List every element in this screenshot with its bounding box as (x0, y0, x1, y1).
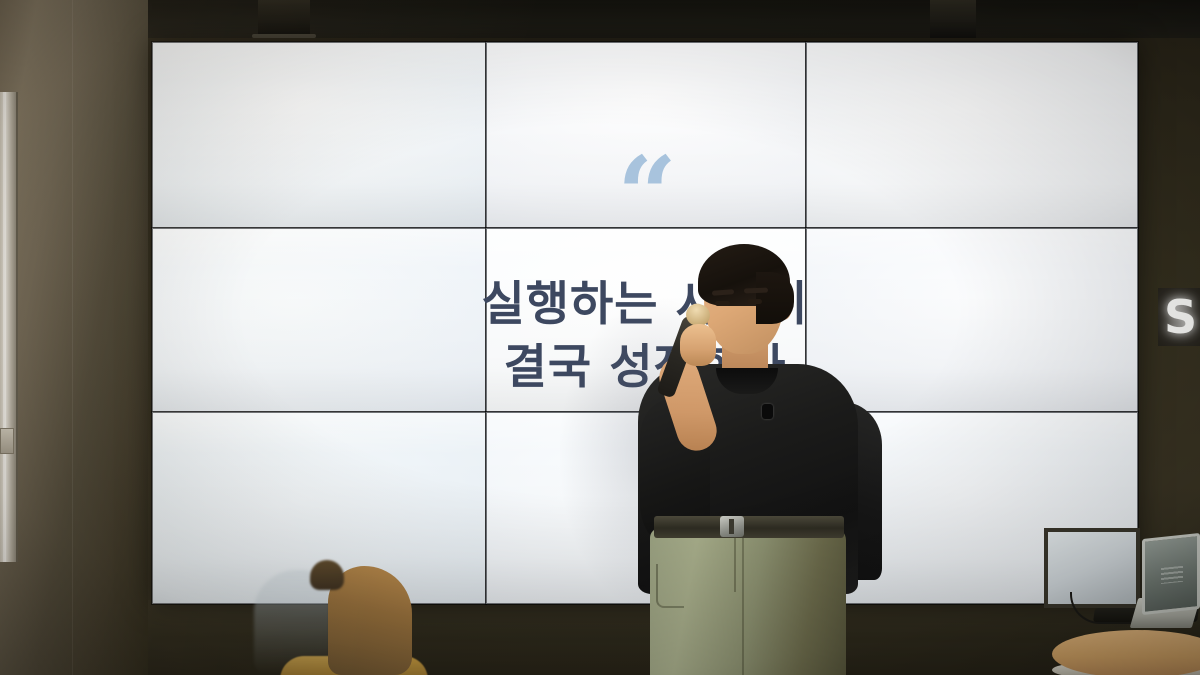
presenter-hair (698, 244, 790, 306)
presenter-pants-seam (734, 530, 736, 592)
ceiling-speaker-right-icon (930, 0, 976, 40)
wall-plate-icon (0, 428, 14, 454)
video-wall-panel (806, 42, 1138, 228)
presenter-pants-pocket (656, 564, 684, 608)
belt-buckle-icon (720, 516, 744, 537)
lapel-microphone-icon (762, 404, 773, 419)
left-wall-column (0, 0, 148, 675)
laptop-screen (1142, 533, 1200, 615)
audience-member (232, 556, 418, 675)
presenter (612, 228, 912, 675)
presenter-eye-left (715, 301, 730, 306)
video-wall-panel (152, 42, 486, 228)
wall-sign-s: S (1158, 288, 1200, 346)
round-table (1052, 626, 1200, 675)
wall-sign-letter: S (1164, 290, 1197, 344)
audience-hair-part (310, 560, 344, 590)
presenter-hand (680, 324, 716, 366)
presenter-eyebrow-right (744, 288, 768, 294)
lower-wall-band (0, 600, 1200, 675)
ceiling-speaker-left-icon (258, 0, 310, 36)
laptop-on-stand (1128, 536, 1200, 632)
table-top (1052, 630, 1200, 675)
presenter-eye-right (747, 299, 762, 304)
presenter-belt (654, 516, 844, 538)
video-wall-panel (486, 42, 806, 228)
video-wall-panel (152, 228, 486, 412)
presentation-scene: “ 실행하는 사람이 결국 성장한다 S (0, 0, 1200, 675)
door-frame (0, 92, 18, 562)
